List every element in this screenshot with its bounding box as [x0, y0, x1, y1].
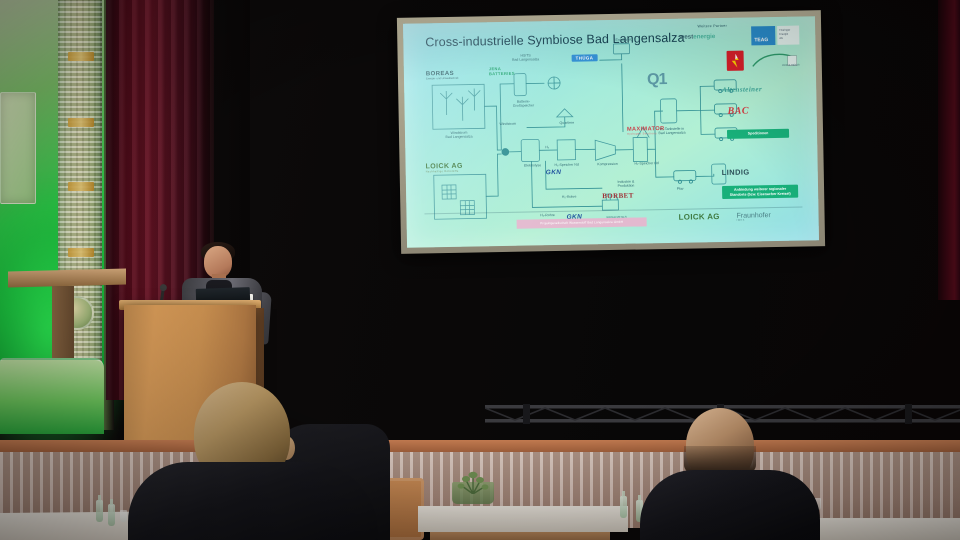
boreas-logo: BOREASEnergie- und Umwelttechnik — [426, 71, 459, 81]
water-bottle — [96, 500, 103, 522]
slide-diagram: BOREASEnergie- und Umwelttechnik Windstr… — [403, 16, 819, 248]
drinking-glass — [120, 510, 127, 522]
projection-screen: Cross-industrielle Symbiose Bad Langensa… — [403, 16, 819, 248]
conference-room-photo: Cross-industrielle Symbiose Bad Langensa… — [0, 0, 960, 540]
audience-foreground-left-torso — [128, 462, 378, 540]
borbet-logo: BORBET — [602, 192, 634, 201]
water-bottle — [620, 496, 627, 518]
q1-logo: Q1 — [647, 71, 667, 89]
fraunhofer-footer-logo: FraunhoferIWKS — [737, 212, 771, 222]
potted-plant — [452, 462, 494, 494]
loick-ag-logo-left: LOICK AGNachhaltige Rohstoffe — [426, 163, 463, 174]
side-shelf — [8, 268, 126, 287]
altensteiner-logo: Altensteiner — [722, 85, 762, 94]
audience-foreground-right-torso — [640, 470, 820, 540]
side-shelf-leg — [52, 286, 74, 358]
bac-logo: BAC — [728, 105, 749, 116]
outlook-badge: Anbindung weiterer regionalerStandorte (… — [722, 185, 798, 200]
gkn-logo-1: GKN — [546, 169, 562, 176]
loick-ag-footer-logo: LOICK AG — [678, 212, 719, 222]
stage-curtain-right — [938, 0, 960, 300]
thuega-logo: THÜGA — [572, 54, 598, 61]
water-bottle — [108, 504, 115, 526]
speditionen-badge: Speditionen — [727, 129, 789, 139]
wall-panel — [0, 92, 36, 204]
lindig-logo: LINDIG — [722, 167, 750, 177]
wall-base-panel — [0, 358, 104, 434]
ornate-wall-left — [0, 0, 112, 430]
jena-batteries-logo: JENABATTERIES — [489, 66, 515, 76]
maximator-logo: MAXIMATORHydrogen Solutions — [627, 126, 665, 136]
table-center — [418, 506, 628, 532]
